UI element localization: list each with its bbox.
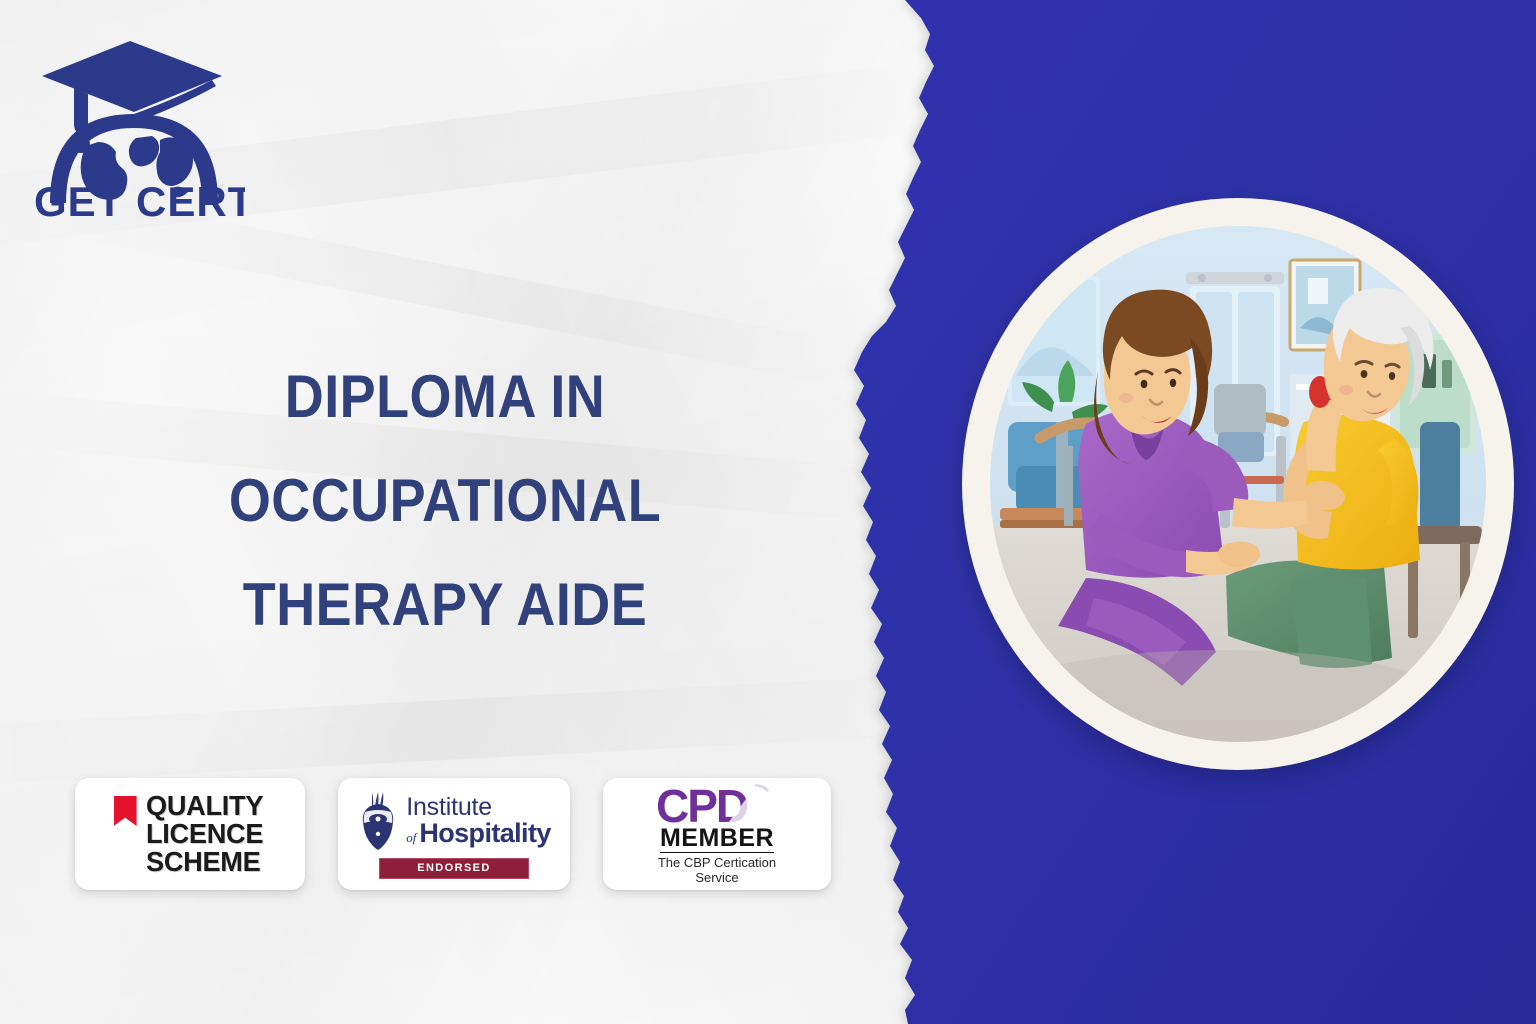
logo-wordmark: GET CERTIFY — [34, 178, 245, 223]
qls-line-2: LICENCE — [146, 820, 263, 848]
cpd-member-label: MEMBER — [660, 826, 774, 853]
hero-photo — [962, 198, 1514, 770]
brand-logo[interactable]: GET CERTIFY — [30, 28, 245, 223]
course-title: DIPLOMA IN OCCUPATIONAL THERAPY AIDE — [120, 345, 770, 657]
cpd-swoosh-icon: CPD — [650, 782, 785, 830]
ioh-institute-label: Institute — [406, 795, 551, 820]
qls-line-3: SCHEME — [146, 848, 263, 876]
ioh-hospitality-label: Hospitality — [419, 820, 550, 847]
accreditation-badges: QUALITY LICENCE SCHEME — [75, 778, 831, 890]
badge-cpd-member[interactable]: CPD MEMBER The CBP Certication Service — [603, 778, 831, 890]
badge-quality-licence-scheme[interactable]: QUALITY LICENCE SCHEME — [75, 778, 305, 890]
ioh-endorsed-label: ENDORSED — [417, 862, 491, 874]
occupational-therapy-session-illustration — [990, 226, 1486, 742]
badge-institute-of-hospitality[interactable]: Institute of Hospitality ENDORSED — [338, 778, 570, 890]
poster-canvas: GET CERTIFY DIPLOMA IN OCCUPATIONAL THER… — [0, 0, 1536, 1024]
ioh-endorsed-ribbon: ENDORSED — [379, 858, 529, 879]
ioh-of-label: of — [406, 831, 416, 844]
course-title-line-3: THERAPY AIDE — [153, 553, 738, 657]
qls-line-1: QUALITY — [146, 792, 263, 820]
cpd-tagline: The CBP Certication Service — [635, 856, 800, 886]
red-bookmark-icon — [114, 796, 137, 826]
course-title-line-2: OCCUPATIONAL — [153, 449, 738, 553]
heraldic-crest-icon — [357, 790, 399, 852]
course-title-line-1: DIPLOMA IN — [153, 345, 738, 449]
